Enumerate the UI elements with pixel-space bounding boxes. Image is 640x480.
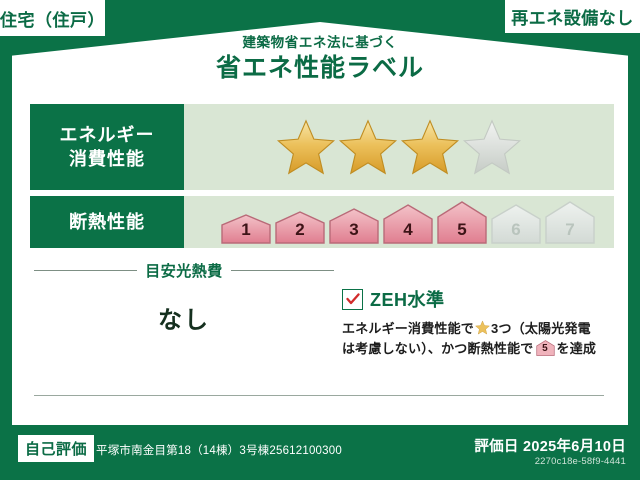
insulation-level-7-number: 7: [544, 220, 596, 240]
reference-code: 2270c18e-58f9-4441: [535, 456, 626, 467]
insulation-label-text: 断熱性能: [69, 210, 145, 234]
star-icon-empty-4: [462, 118, 522, 176]
energy-performance-label: エネルギー 消費性能: [30, 104, 184, 190]
insulation-level-3-number: 3: [328, 220, 380, 240]
insulation-level-1: 1: [220, 214, 272, 244]
insulation-level-4: 4: [382, 204, 434, 244]
evaluation-date: 評価日 2025年6月10日: [474, 435, 626, 456]
star-icon-inline: [475, 320, 490, 335]
title-block: 建築物省エネ法に基づく 省エネ性能ラベル: [0, 36, 640, 81]
energy-label-line1: エネルギー: [60, 123, 155, 147]
energy-performance-row: エネルギー 消費性能: [30, 104, 614, 190]
insulation-level-4-number: 4: [382, 220, 434, 240]
zeh-desc-part3: を達成: [557, 341, 597, 356]
insulation-level-2-number: 2: [274, 220, 326, 240]
zeh-desc-part2: は考慮しない）、かつ断熱性能で: [342, 341, 534, 356]
zeh-title-row: ZEH水準: [342, 286, 612, 312]
zeh-description: エネルギー消費性能で3つ（太陽光発電は考慮しない）、かつ断熱性能で5を達成: [342, 319, 612, 359]
star-rating: [276, 118, 522, 176]
footer: 自己評価 平塚市南金目第18（14棟）3号棟25612100300 評価日 20…: [0, 425, 640, 480]
energy-label-root: 住宅（住戸） 再エネ設備なし 建築物省エネ法に基づく 省エネ性能ラベル エネルギ…: [0, 0, 640, 480]
house-icon-inline: 5: [536, 340, 555, 356]
check-icon: [346, 293, 360, 305]
zeh-desc-star-count: 3つ（太陽光発電: [491, 321, 591, 336]
heading-rule-left: [34, 270, 137, 271]
label-panel: エネルギー 消費性能: [12, 88, 628, 425]
badge-house-type: 住宅（住戸）: [0, 0, 105, 36]
utility-cost-heading: 目安光熱費: [34, 260, 334, 281]
zeh-checkbox[interactable]: [342, 289, 363, 310]
energy-label-line2: 消費性能: [69, 147, 145, 171]
star-icon-filled-2: [338, 118, 398, 176]
star-icon-filled-1: [276, 118, 336, 176]
badge-renewable-equipment: 再エネ設備なし: [505, 0, 640, 33]
zeh-block: ZEH水準 エネルギー消費性能で3つ（太陽光発電は考慮しない）、かつ断熱性能で5…: [342, 286, 612, 359]
insulation-level-6: 6: [490, 204, 542, 244]
insulation-performance-label: 断熱性能: [30, 196, 184, 248]
heading-rule-right: [231, 270, 334, 271]
utility-cost-value: なし: [34, 300, 334, 335]
insulation-performance-value: 1 2 3: [184, 196, 614, 248]
insulation-performance-row: 断熱性能 1: [30, 196, 614, 248]
insulation-level-2: 2: [274, 211, 326, 244]
energy-performance-value: [184, 104, 614, 190]
page-title: 省エネ性能ラベル: [0, 56, 640, 81]
house-icon-inline-number: 5: [536, 341, 555, 357]
insulation-level-5: 5: [436, 201, 488, 244]
insulation-level-3: 3: [328, 208, 380, 244]
utility-cost-heading-text: 目安光熱費: [145, 260, 223, 281]
insulation-level-6-number: 6: [490, 220, 542, 240]
self-evaluation-badge: 自己評価: [18, 435, 94, 462]
zeh-title-text: ZEH水準: [370, 286, 445, 312]
insulation-level-1-number: 1: [220, 220, 272, 240]
star-icon-filled-3: [400, 118, 460, 176]
insulation-level-5-number: 5: [436, 220, 488, 240]
panel-divider: [34, 395, 604, 396]
title-subtitle: 建築物省エネ法に基づく: [0, 36, 640, 50]
insulation-level-scale: 1 2 3: [220, 200, 596, 244]
insulation-level-7: 7: [544, 201, 596, 244]
zeh-desc-part1: エネルギー消費性能で: [342, 321, 474, 336]
property-address: 平塚市南金目第18（14棟）3号棟25612100300: [96, 442, 342, 458]
